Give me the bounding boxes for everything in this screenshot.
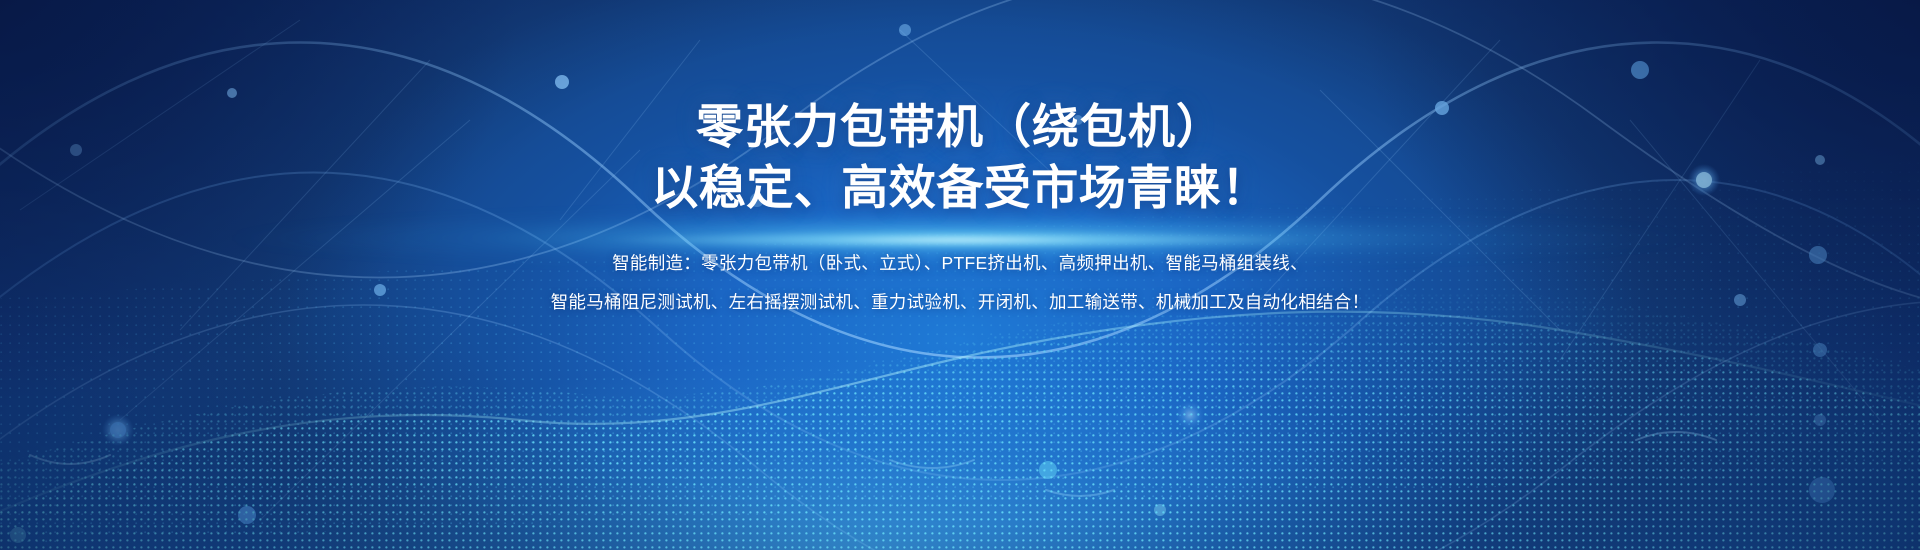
banner-headline: 零张力包带机（绕包机） 以稳定、高效备受市场青睐！ [651, 96, 1269, 218]
hero-banner: 零张力包带机（绕包机） 以稳定、高效备受市场青睐！ 智能制造：零张力包带机（卧式… [0, 0, 1920, 550]
banner-subcopy: 智能制造：零张力包带机（卧式、立式）、PTFE挤出机、高频押出机、智能马桶组装线… [551, 244, 1370, 321]
subcopy-line-1: 智能制造：零张力包带机（卧式、立式）、PTFE挤出机、高频押出机、智能马桶组装线… [551, 244, 1370, 283]
headline-line-2: 以稳定、高效备受市场青睐！ [651, 157, 1269, 218]
subcopy-line-2: 智能马桶阻尼测试机、左右摇摆测试机、重力试验机、开闭机、加工输送带、机械加工及自… [551, 283, 1370, 322]
banner-content: 零张力包带机（绕包机） 以稳定、高效备受市场青睐！ 智能制造：零张力包带机（卧式… [0, 0, 1920, 550]
headline-line-1: 零张力包带机（绕包机） [696, 100, 1224, 153]
